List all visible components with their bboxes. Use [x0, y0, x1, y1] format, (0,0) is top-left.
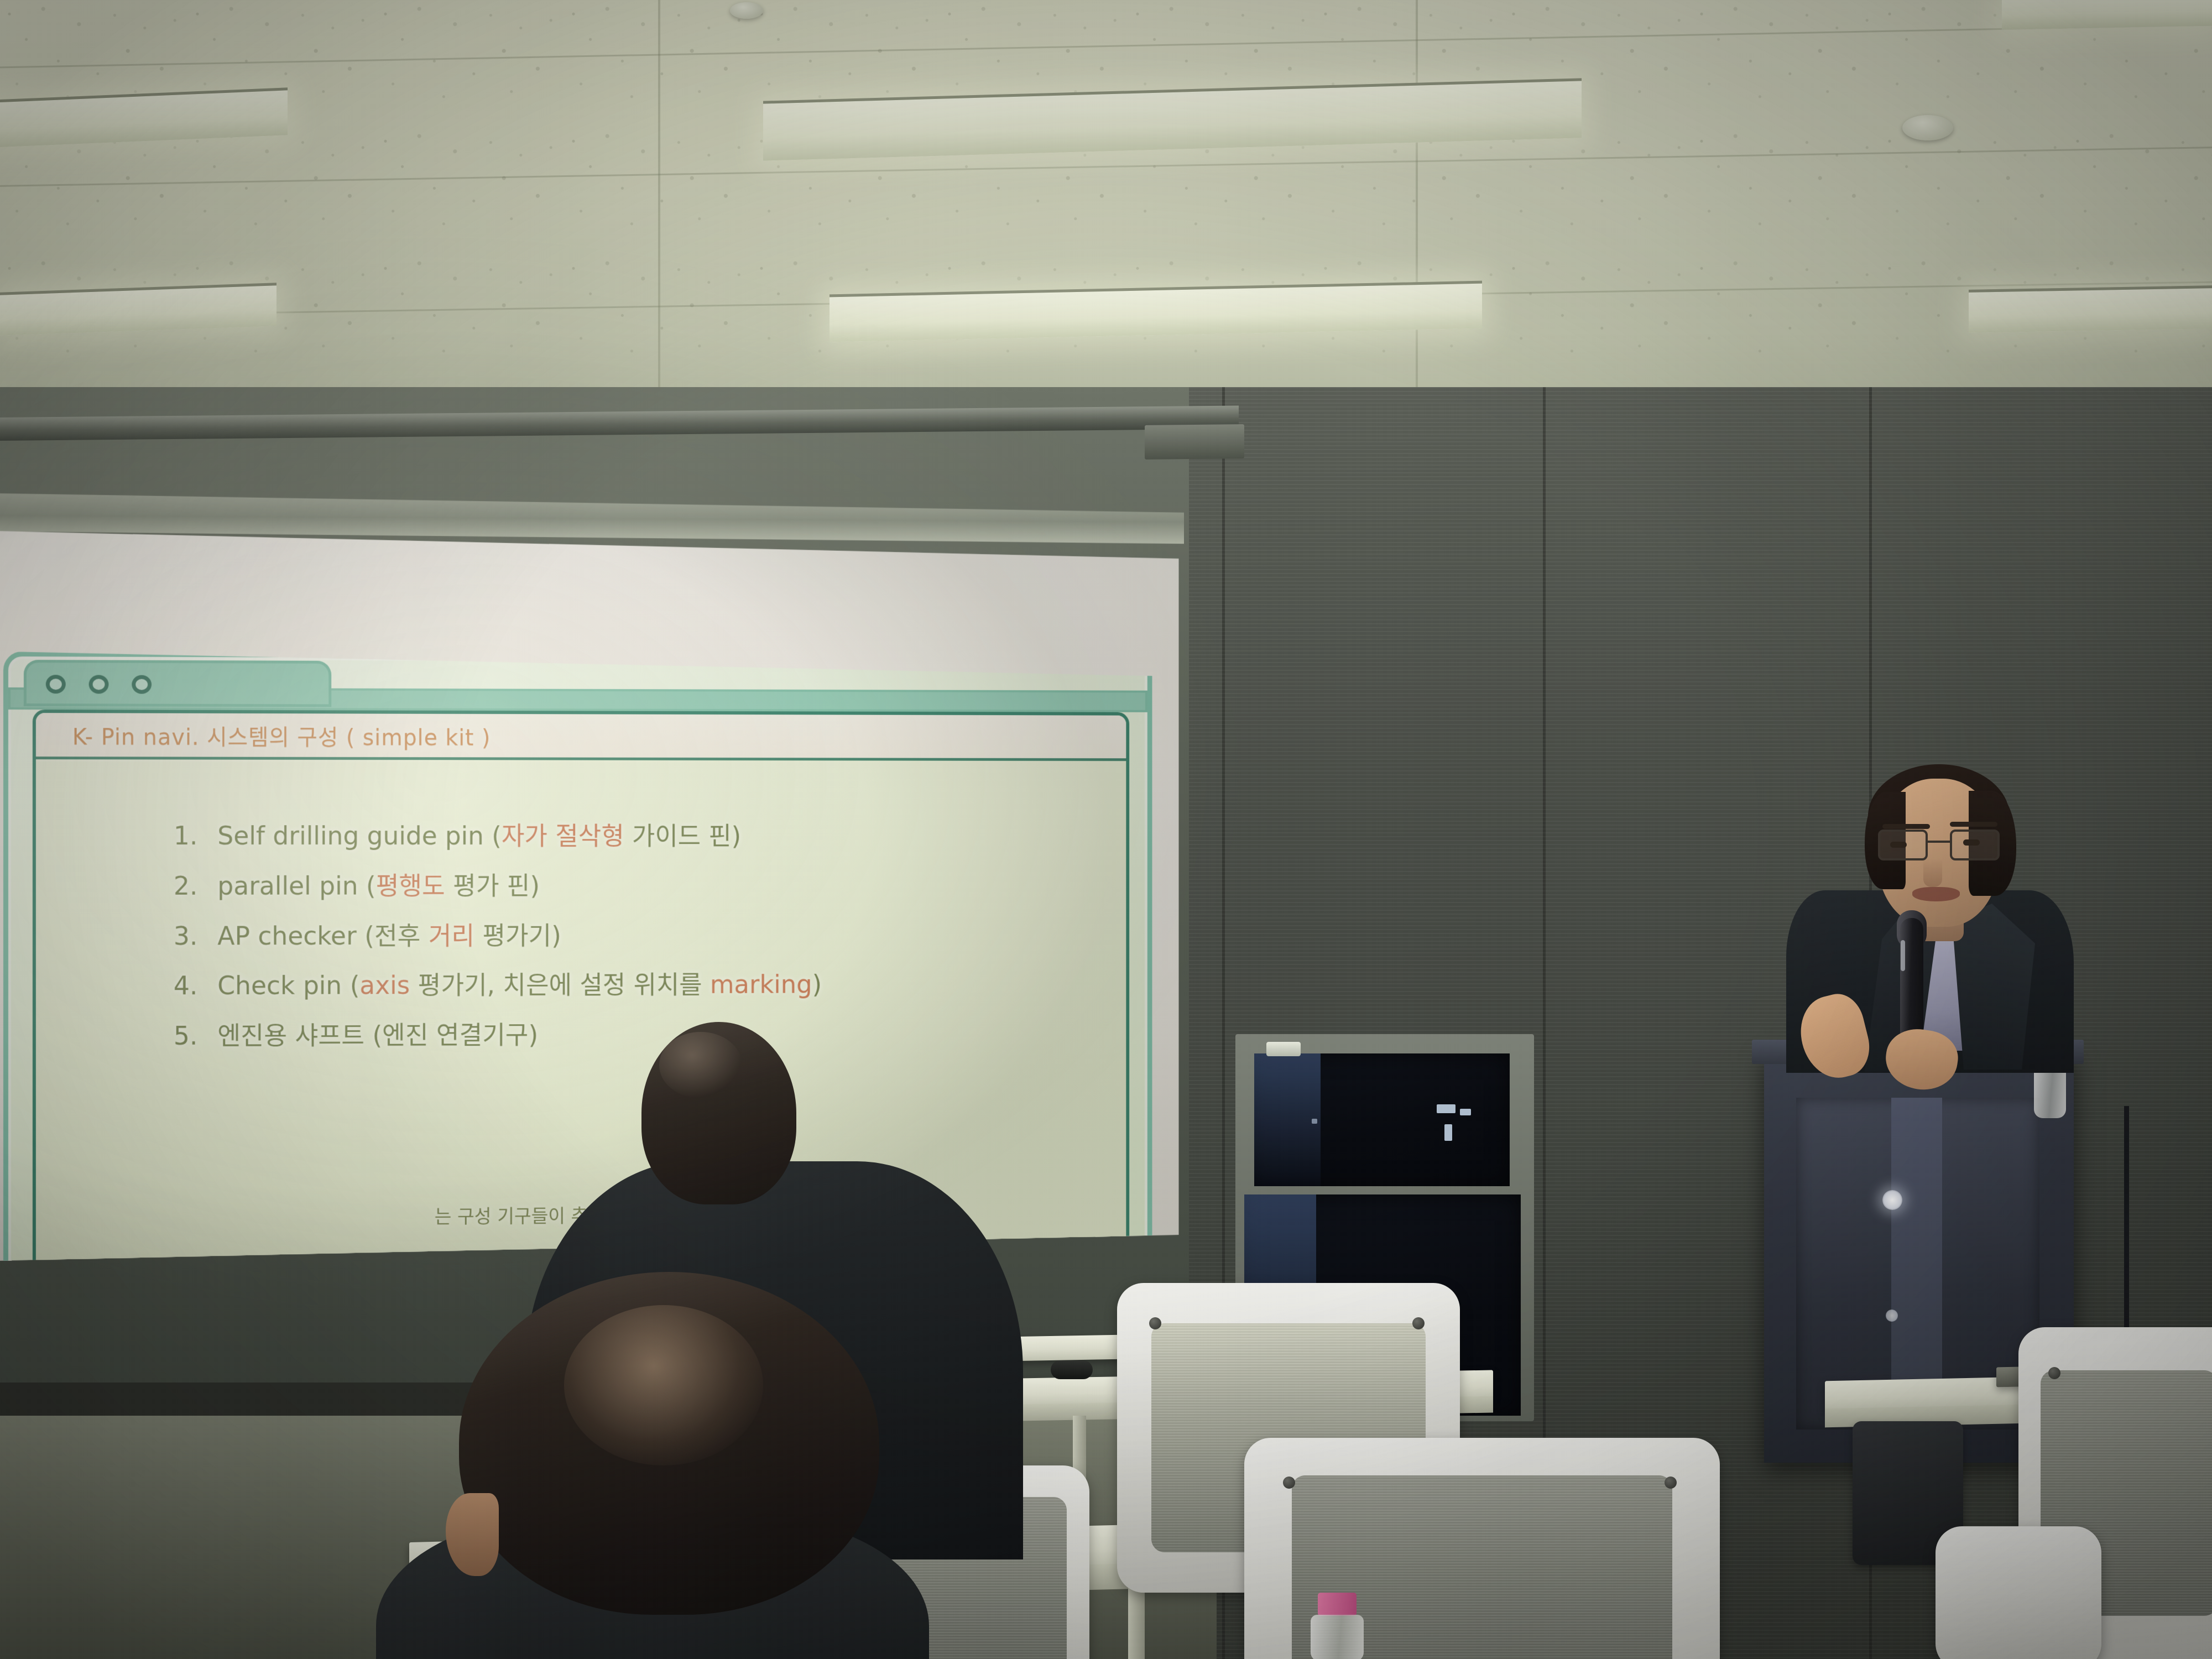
list-item-number: 2. [174, 873, 204, 900]
water-bottle-2 [1311, 1593, 1364, 1659]
mouse-on-desk-icon [1051, 1360, 1093, 1379]
presenter-eye-right [1963, 839, 1980, 846]
attendee-2-scalp-highlight [564, 1305, 763, 1465]
chair-screw-left [2048, 1367, 2060, 1379]
ceiling-light-6 [2002, 0, 2212, 29]
list-item-number: 1. [174, 822, 204, 849]
list-item: 5. 엔진용 샤프트 (엔진 연결기구) [174, 1020, 1126, 1050]
presenter-brow-left [1882, 824, 1930, 829]
window-dot-yellow-icon [89, 675, 109, 694]
chair-screw-right [1412, 1317, 1425, 1329]
list-item-text: AP checker (전후 거리 평가기) [217, 922, 561, 949]
presenter-brow-right [1950, 822, 1997, 827]
slide-list: 1. Self drilling guide pin (자가 절삭형 가이드 핀… [36, 822, 1126, 1050]
chair-screw-left [1149, 1317, 1161, 1329]
podium-indicator-icon [1882, 1190, 1902, 1210]
presenter-nose [1923, 858, 1942, 887]
slide-window-tab [24, 660, 331, 707]
ceiling-speaker-icon [1902, 115, 1953, 140]
list-item: 2. parallel pin (평행도 평가 핀) [174, 872, 1126, 899]
list-item-text: Check pin (axis 평가기, 치은에 설정 위치를 marking) [217, 971, 822, 999]
slide-body: 1. Self drilling guide pin (자가 절삭형 가이드 핀… [36, 761, 1126, 1282]
presenter-mouth [1912, 887, 1960, 901]
chair-screw-right [1665, 1477, 1677, 1489]
list-item-number: 5. [174, 1022, 204, 1050]
chair-frame [1936, 1526, 2101, 1659]
podium-indicator-2-icon [1886, 1310, 1898, 1322]
chair-right-armrest[interactable] [1936, 1526, 2101, 1659]
projection-screen: K- Pin navi. 시스템의 구성 ( simple kit ) 1. S… [0, 442, 1184, 1261]
list-item: 1. Self drilling guide pin (자가 절삭형 가이드 핀… [174, 822, 1126, 849]
list-item-text: parallel pin (평행도 평가 핀) [217, 872, 540, 899]
chair-screw-left [1283, 1477, 1295, 1489]
list-item-text: 엔진용 샤프트 (엔진 연결기구) [217, 1021, 538, 1049]
attendee-1-hair-highlight [659, 1032, 742, 1098]
bottle-body-2 [1311, 1615, 1364, 1659]
window-latch-icon [1266, 1042, 1301, 1056]
list-item-number: 4. [174, 972, 204, 999]
microphone-highlight [1901, 940, 1905, 971]
ceiling-fixture-small-icon [730, 2, 763, 19]
slide-inner-panel: K- Pin navi. 시스템의 구성 ( simple kit ) 1. S… [33, 709, 1129, 1285]
window-dot-green-icon [132, 675, 152, 694]
window-dot-red-icon [46, 675, 66, 693]
window-pane-upper [1254, 1053, 1510, 1186]
slide-title: K- Pin navi. 시스템의 구성 ( simple kit ) [36, 719, 491, 752]
glasses-bridge [1928, 841, 1952, 843]
ceiling-light-5 [1969, 285, 2212, 333]
list-item: 3. AP checker (전후 거리 평가기) [174, 921, 1126, 950]
list-item-text: Self drilling guide pin (자가 절삭형 가이드 핀) [217, 822, 741, 849]
desk-front-leg-2 [1128, 1586, 1145, 1659]
presenter-eye-left [1890, 842, 1907, 848]
slide-window-frame: K- Pin navi. 시스템의 구성 ( simple kit ) 1. S… [3, 651, 1152, 1310]
ceiling [0, 0, 2212, 426]
list-item-number: 3. [174, 922, 204, 950]
slide-title-band: K- Pin navi. 시스템의 구성 ( simple kit ) [36, 713, 1126, 761]
list-item: 4. Check pin (axis 평가기, 치은에 설정 위치를 marki… [174, 971, 1126, 999]
slide-content: K- Pin navi. 시스템의 구성 ( simple kit ) 1. S… [3, 651, 1152, 1310]
bottle-cap-2-icon [1318, 1593, 1356, 1616]
room-photo-scene: K- Pin navi. 시스템의 구성 ( simple kit ) 1. S… [0, 0, 2212, 1659]
